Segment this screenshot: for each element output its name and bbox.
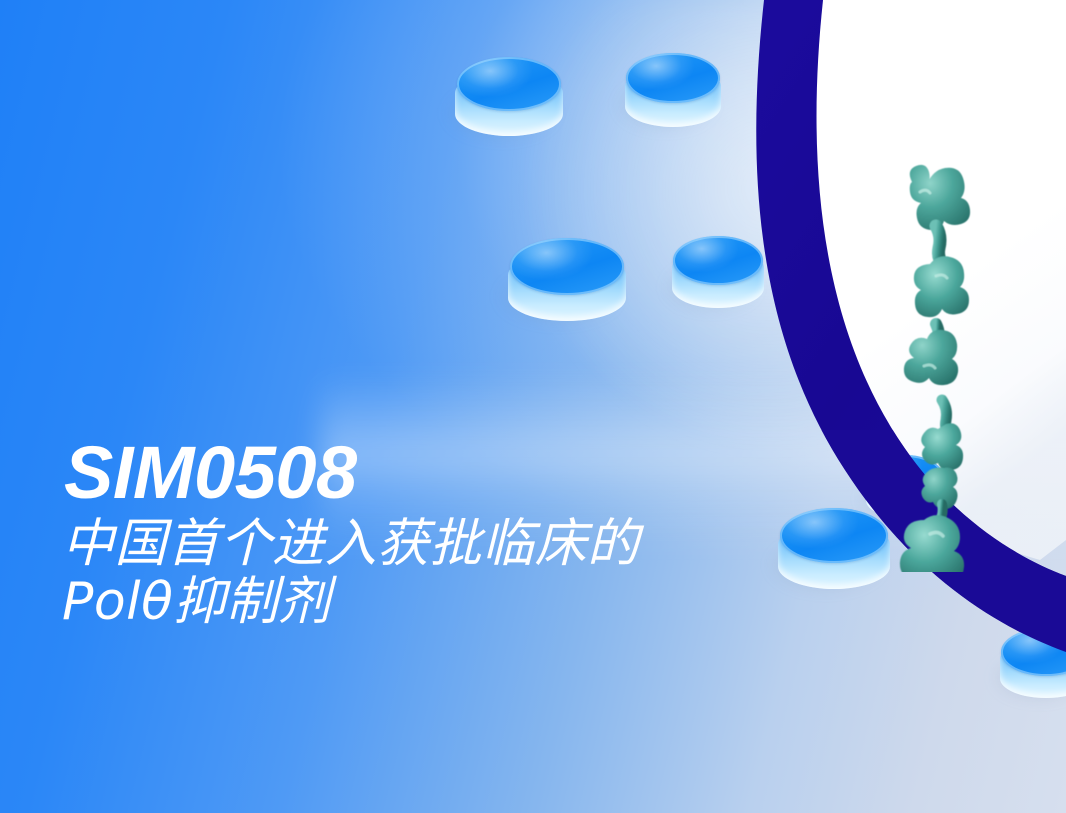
background-gradient (0, 0, 1066, 813)
subtitle-line-2: Polθ抑制剂 (62, 572, 842, 632)
subtitle-line-1: 中国首个进入获批临床的 (62, 514, 842, 574)
poster-canvas: SIM0508 中国首个进入获批临床的 Polθ抑制剂 (0, 0, 1066, 813)
page-title: SIM0508 (64, 437, 842, 508)
poster-text-block: SIM0508 中国首个进入获批临床的 Polθ抑制剂 (62, 437, 842, 633)
